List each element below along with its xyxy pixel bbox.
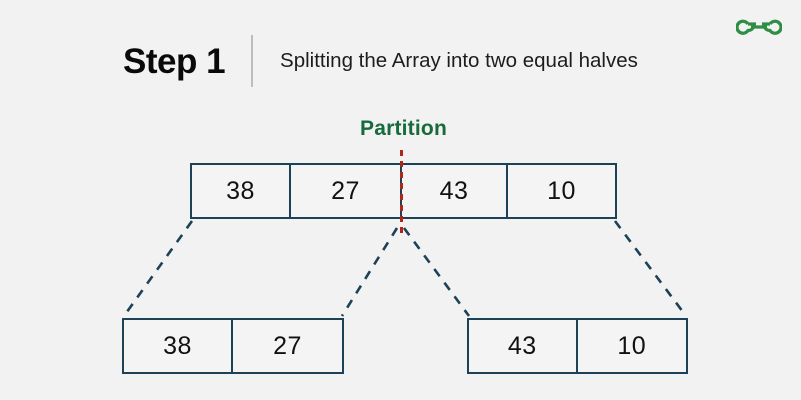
diagram-canvas: Step 1 Splitting the Array into two equa… xyxy=(0,0,801,400)
geeksforgeeks-logo xyxy=(736,14,782,40)
array-cell: 27 xyxy=(291,165,402,217)
original-array: 38 27 43 10 xyxy=(190,163,617,219)
array-cell: 10 xyxy=(578,320,687,372)
step-subtitle: Splitting the Array into two equal halve… xyxy=(280,51,638,72)
step-title: Step 1 xyxy=(123,44,225,79)
partition-label: Partition xyxy=(360,117,447,140)
array-cell: 10 xyxy=(508,165,615,217)
header: Step 1 Splitting the Array into two equa… xyxy=(123,34,638,88)
connector-top-left-inner xyxy=(342,228,397,316)
partition-divider-line xyxy=(400,150,403,238)
connector-top-right-inner xyxy=(404,228,469,316)
connector-top-left-outer xyxy=(124,221,192,316)
array-cell: 43 xyxy=(469,320,578,372)
connector-top-right-outer xyxy=(615,221,686,316)
left-half-array: 38 27 xyxy=(122,318,344,374)
array-cell: 27 xyxy=(233,320,342,372)
partition-label-container: Partition xyxy=(0,117,801,141)
right-half-array: 43 10 xyxy=(467,318,688,374)
array-cell: 43 xyxy=(402,165,508,217)
array-cell: 38 xyxy=(192,165,291,217)
header-divider xyxy=(251,35,253,87)
array-cell: 38 xyxy=(124,320,233,372)
